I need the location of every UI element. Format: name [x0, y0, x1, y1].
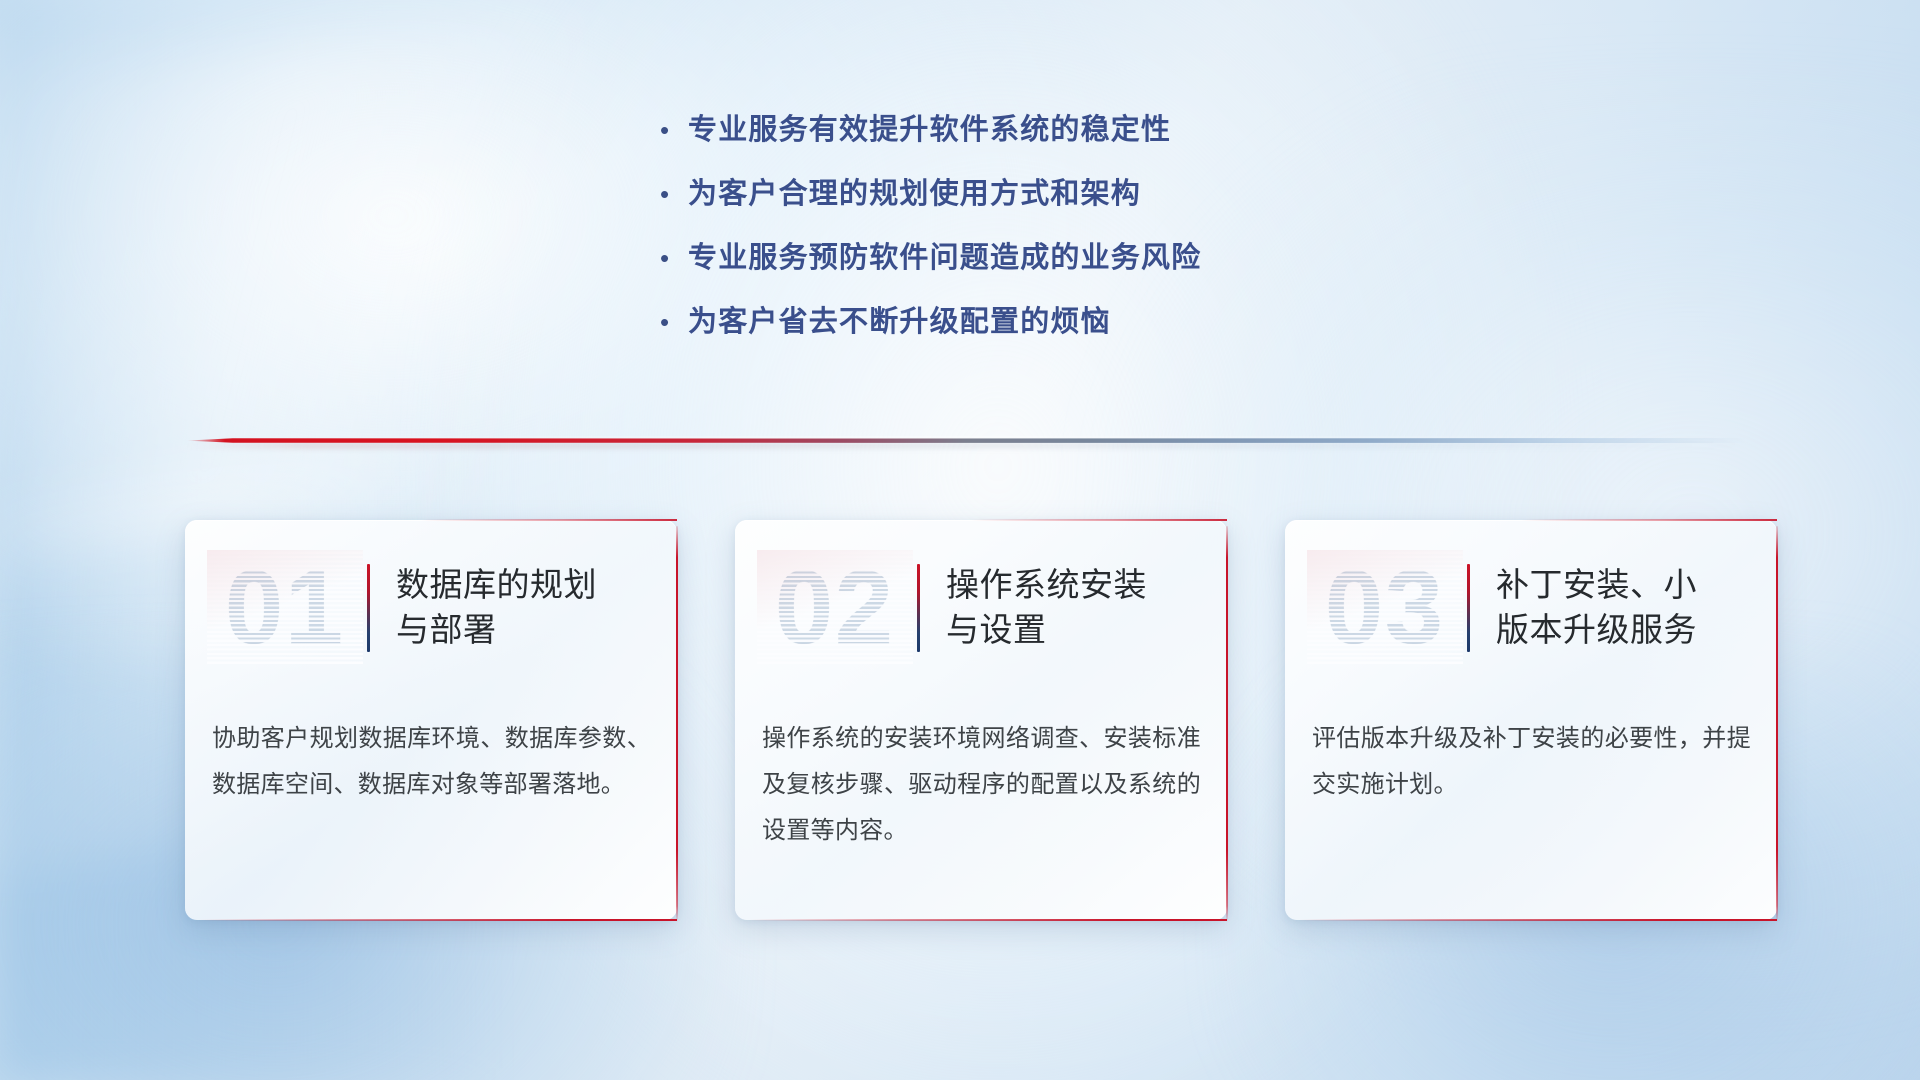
- card-number-watermark: 02: [757, 550, 913, 666]
- list-item: • 专业服务预防软件问题造成的业务风险: [660, 234, 1201, 298]
- card-title: 操作系统安装 与设置: [946, 563, 1161, 652]
- card-number-text: 02: [757, 550, 913, 666]
- card-header: 01 数据库的规划 与部署: [185, 520, 677, 696]
- card-title-line2: 版本升级服务: [1496, 608, 1697, 653]
- card-number-watermark: 03: [1307, 550, 1463, 666]
- bullet-marker-icon: •: [660, 309, 688, 335]
- bullet-text: 为客户省去不断升级配置的烦恼: [688, 298, 1111, 340]
- list-item: • 专业服务有效提升软件系统的稳定性: [660, 106, 1201, 170]
- card-title-line2: 与设置: [946, 608, 1147, 653]
- bullet-marker-icon: •: [660, 181, 688, 207]
- card-title-line1: 数据库的规划: [396, 563, 597, 608]
- card-title-accent-bar: [367, 564, 370, 652]
- bullet-marker-icon: •: [660, 117, 688, 143]
- benefits-bullet-list: • 专业服务有效提升软件系统的稳定性 • 为客户合理的规划使用方式和架构 • 专…: [660, 106, 1201, 362]
- divider-highlight: [186, 436, 1746, 439]
- service-card-02[interactable]: 02 操作系统安装 与设置 操作系统的安装环境网络调查、安装标准及复核步骤、驱动…: [735, 520, 1227, 920]
- bullet-text: 专业服务预防软件问题造成的业务风险: [688, 234, 1201, 276]
- bullet-text: 专业服务有效提升软件系统的稳定性: [688, 106, 1171, 148]
- card-title-accent-bar: [917, 564, 920, 652]
- bullet-marker-icon: •: [660, 245, 688, 271]
- bullet-text: 为客户合理的规划使用方式和架构: [688, 170, 1141, 212]
- card-accent-bottom: [749, 919, 1227, 921]
- divider-shadow: [186, 443, 1746, 448]
- card-body-text: 协助客户规划数据库环境、数据库参数、数据库空间、数据库对象等部署落地。: [212, 716, 651, 808]
- card-header: 03 补丁安装、小 版本升级服务: [1285, 520, 1777, 696]
- service-card-group: 01 数据库的规划 与部署 协助客户规划数据库环境、数据库参数、数据库空间、数据…: [185, 520, 1777, 920]
- list-item: • 为客户省去不断升级配置的烦恼: [660, 298, 1201, 362]
- section-divider: [186, 434, 1746, 448]
- card-number-watermark: 01: [207, 550, 363, 666]
- card-title-line2: 与部署: [396, 608, 597, 653]
- card-number-text: 01: [207, 550, 363, 666]
- card-title: 数据库的规划 与部署: [396, 563, 611, 652]
- card-title-line1: 补丁安装、小: [1496, 563, 1697, 608]
- card-body-text: 操作系统的安装环境网络调查、安装标准及复核步骤、驱动程序的配置以及系统的设置等内…: [762, 716, 1201, 854]
- service-card-01[interactable]: 01 数据库的规划 与部署 协助客户规划数据库环境、数据库参数、数据库空间、数据…: [185, 520, 677, 920]
- card-title-accent-bar: [1467, 564, 1470, 652]
- card-accent-bottom: [1299, 919, 1777, 921]
- service-card-03[interactable]: 03 补丁安装、小 版本升级服务 评估版本升级及补丁安装的必要性，并提交实施计划…: [1285, 520, 1777, 920]
- card-accent-bottom: [199, 919, 677, 921]
- card-title: 补丁安装、小 版本升级服务: [1496, 563, 1711, 652]
- card-header: 02 操作系统安装 与设置: [735, 520, 1227, 696]
- card-title-line1: 操作系统安装: [946, 563, 1147, 608]
- card-number-text: 03: [1307, 550, 1463, 666]
- list-item: • 为客户合理的规划使用方式和架构: [660, 170, 1201, 234]
- card-body-text: 评估版本升级及补丁安装的必要性，并提交实施计划。: [1312, 716, 1751, 808]
